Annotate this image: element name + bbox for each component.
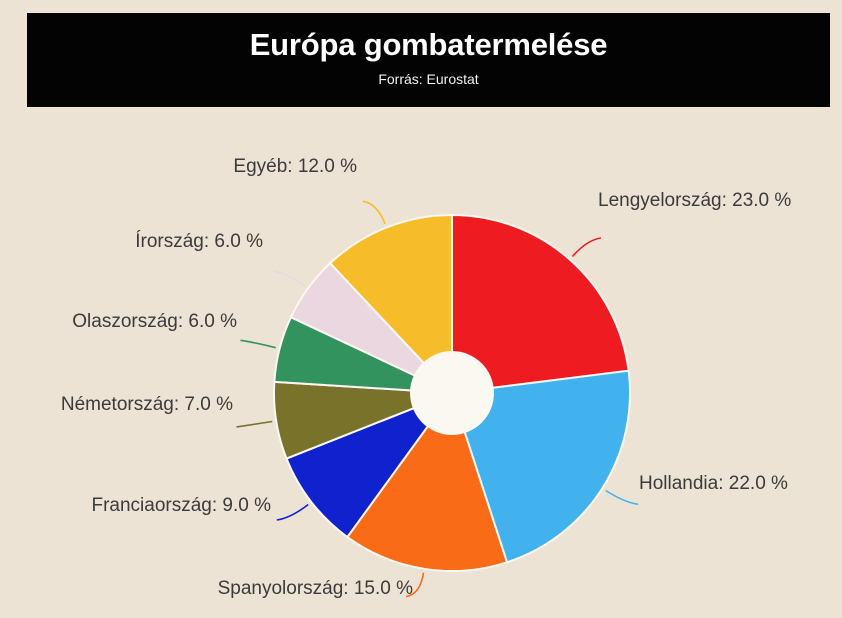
leader-line-egyéb [363, 201, 385, 224]
slice-label-hollandia: Hollandia: 22.0 % [639, 472, 788, 495]
slice-label-spanyolország: Spanyolország: 15.0 % [0, 577, 413, 600]
donut-hole [410, 351, 494, 435]
donut-chart-svg [0, 107, 842, 618]
chart-canvas: Európa gombatermelése Forrás: Eurostat L… [0, 0, 842, 618]
leader-line-írország [273, 271, 305, 286]
slice-label-lengyelország: Lengyelország: 23.0 % [598, 189, 791, 212]
slice-label-németország: Németország: 7.0 % [0, 393, 233, 416]
leader-line-franciaország [277, 505, 308, 521]
leader-line-németország [237, 422, 273, 427]
slice-label-egyéb: Egyéb: 12.0 % [0, 155, 357, 178]
slice-label-olaszország: Olaszország: 6.0 % [0, 310, 237, 333]
chart-source-note: Forrás: Eurostat [378, 70, 478, 88]
page-title: Európa gombatermelése [250, 26, 608, 64]
chart-plot-area: Lengyelország: 23.0 %Hollandia: 22.0 %Sp… [0, 107, 842, 618]
chart-header: Európa gombatermelése Forrás: Eurostat [27, 13, 830, 107]
leader-line-olaszország [240, 340, 275, 347]
slice-label-franciaország: Franciaország: 9.0 % [0, 494, 271, 517]
leader-line-lengyelország [572, 238, 601, 257]
slice-label-írország: Írország: 6.0 % [0, 230, 263, 253]
leader-line-hollandia [606, 491, 639, 505]
